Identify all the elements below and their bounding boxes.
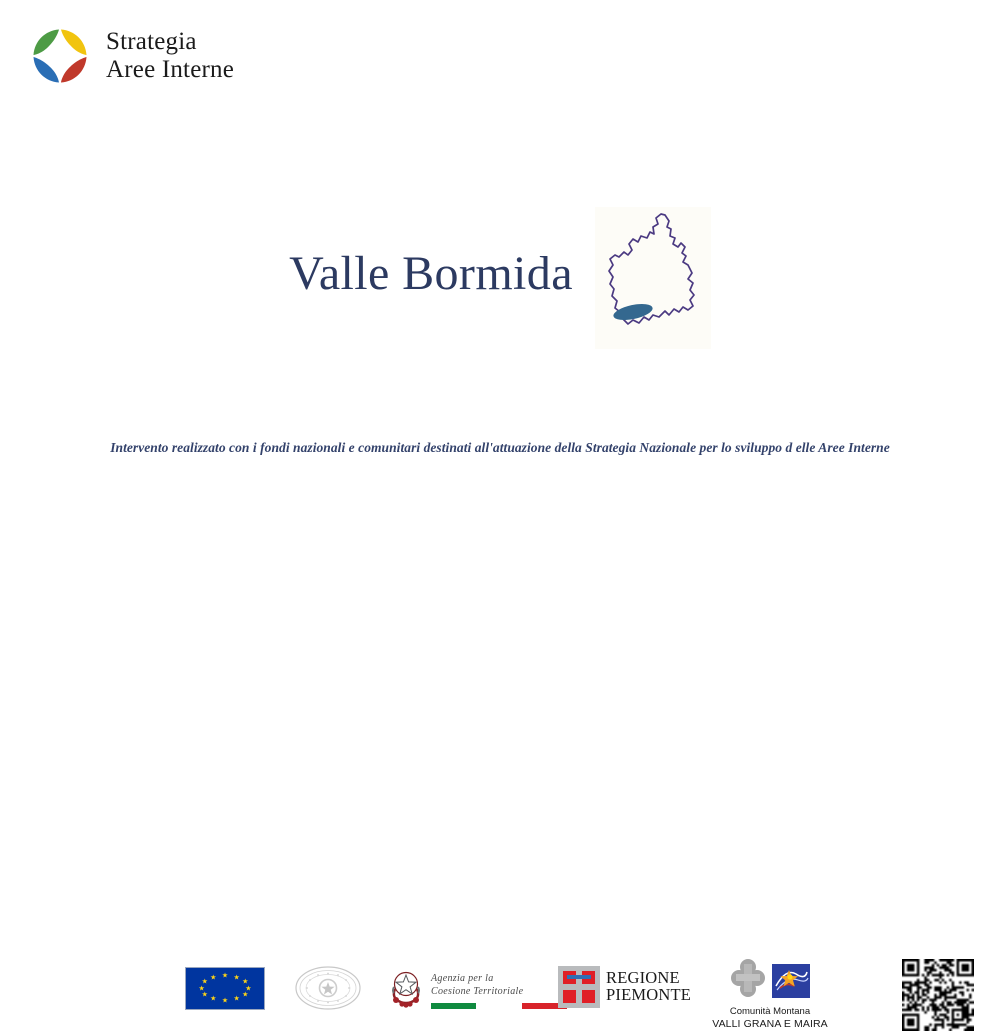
agenzia-wordmark: Agenzia per la Coesione Territoriale (431, 973, 567, 1009)
piemonte-line-1: REGIONE (606, 970, 691, 987)
piemonte-blue-bar (567, 975, 591, 979)
piemonte-line-2: PIEMONTE (606, 987, 691, 1004)
eu-star-icon: ★ (202, 978, 208, 985)
page-title: Valle Bormida (289, 246, 573, 309)
eu-star-icon: ★ (234, 974, 240, 981)
eu-star-icon: ★ (198, 985, 204, 992)
strategia-aree-interne-icon (28, 24, 92, 88)
eu-star-icon: ★ (210, 996, 216, 1003)
comunita-badge-icon (772, 964, 810, 998)
comunita-marks (730, 958, 810, 1003)
tricolore-bar (431, 1003, 567, 1009)
brand-wordmark: Strategia Aree Interne (106, 28, 234, 84)
tricolore-white (476, 1003, 521, 1009)
institutional-logo-strip: ★ ★ ★ ★ ★ ★ ★ ★ ★ ★ ★ ★ (0, 478, 1000, 548)
agenzia-line-1: Agenzia per la (431, 973, 567, 984)
piemonte-square-bl (563, 990, 576, 1003)
funding-statement: Intervento realizzato con i fondi nazion… (0, 440, 1000, 456)
regione-piemonte-wordmark: REGIONE PIEMONTE (606, 970, 691, 1004)
brand-line-2: Aree Interne (106, 56, 234, 84)
eu-star-icon: ★ (234, 996, 240, 1003)
eu-star-icon: ★ (242, 992, 248, 999)
eu-star-icon: ★ (210, 974, 216, 981)
qr-code-canvas[interactable] (902, 959, 974, 1031)
regione-piemonte-icon (558, 966, 600, 1008)
comunita-caption: Comunità Montana VALLI GRANA E MAIRA (712, 1007, 828, 1030)
hero-block: Valle Bormida (0, 205, 1000, 350)
qr-code[interactable] (902, 959, 974, 1031)
comunita-montana-logo: Comunità Montana VALLI GRANA E MAIRA (700, 958, 840, 1030)
brand-logo-block: Strategia Aree Interne (28, 24, 234, 88)
european-union-flag: ★ ★ ★ ★ ★ ★ ★ ★ ★ ★ ★ ★ (185, 967, 265, 1010)
agenzia-line-2: Coesione Territoriale (431, 986, 567, 997)
eu-star-icon: ★ (222, 973, 228, 980)
brand-line-1: Strategia (106, 28, 234, 56)
agenzia-coesione-territoriale-logo: Agenzia per la Coesione Territoriale (388, 967, 567, 1014)
piemonte-square-br (582, 990, 595, 1003)
comunita-clover-icon (730, 958, 766, 1003)
regione-piemonte-logo: REGIONE PIEMONTE (558, 966, 691, 1008)
emblema-repubblica-icon (388, 967, 424, 1014)
eu-star-icon: ★ (222, 997, 228, 1004)
repubblica-italiana-seal (294, 965, 362, 1011)
comunita-line-2: VALLI GRANA E MAIRA (712, 1018, 828, 1030)
eu-star-icon: ★ (202, 992, 208, 999)
piemonte-region-map (595, 207, 711, 349)
tricolore-green (431, 1003, 476, 1009)
eu-flag-field: ★ ★ ★ ★ ★ ★ ★ ★ ★ ★ ★ ★ (185, 967, 265, 1010)
comunita-line-1: Comunità Montana (712, 1007, 828, 1018)
